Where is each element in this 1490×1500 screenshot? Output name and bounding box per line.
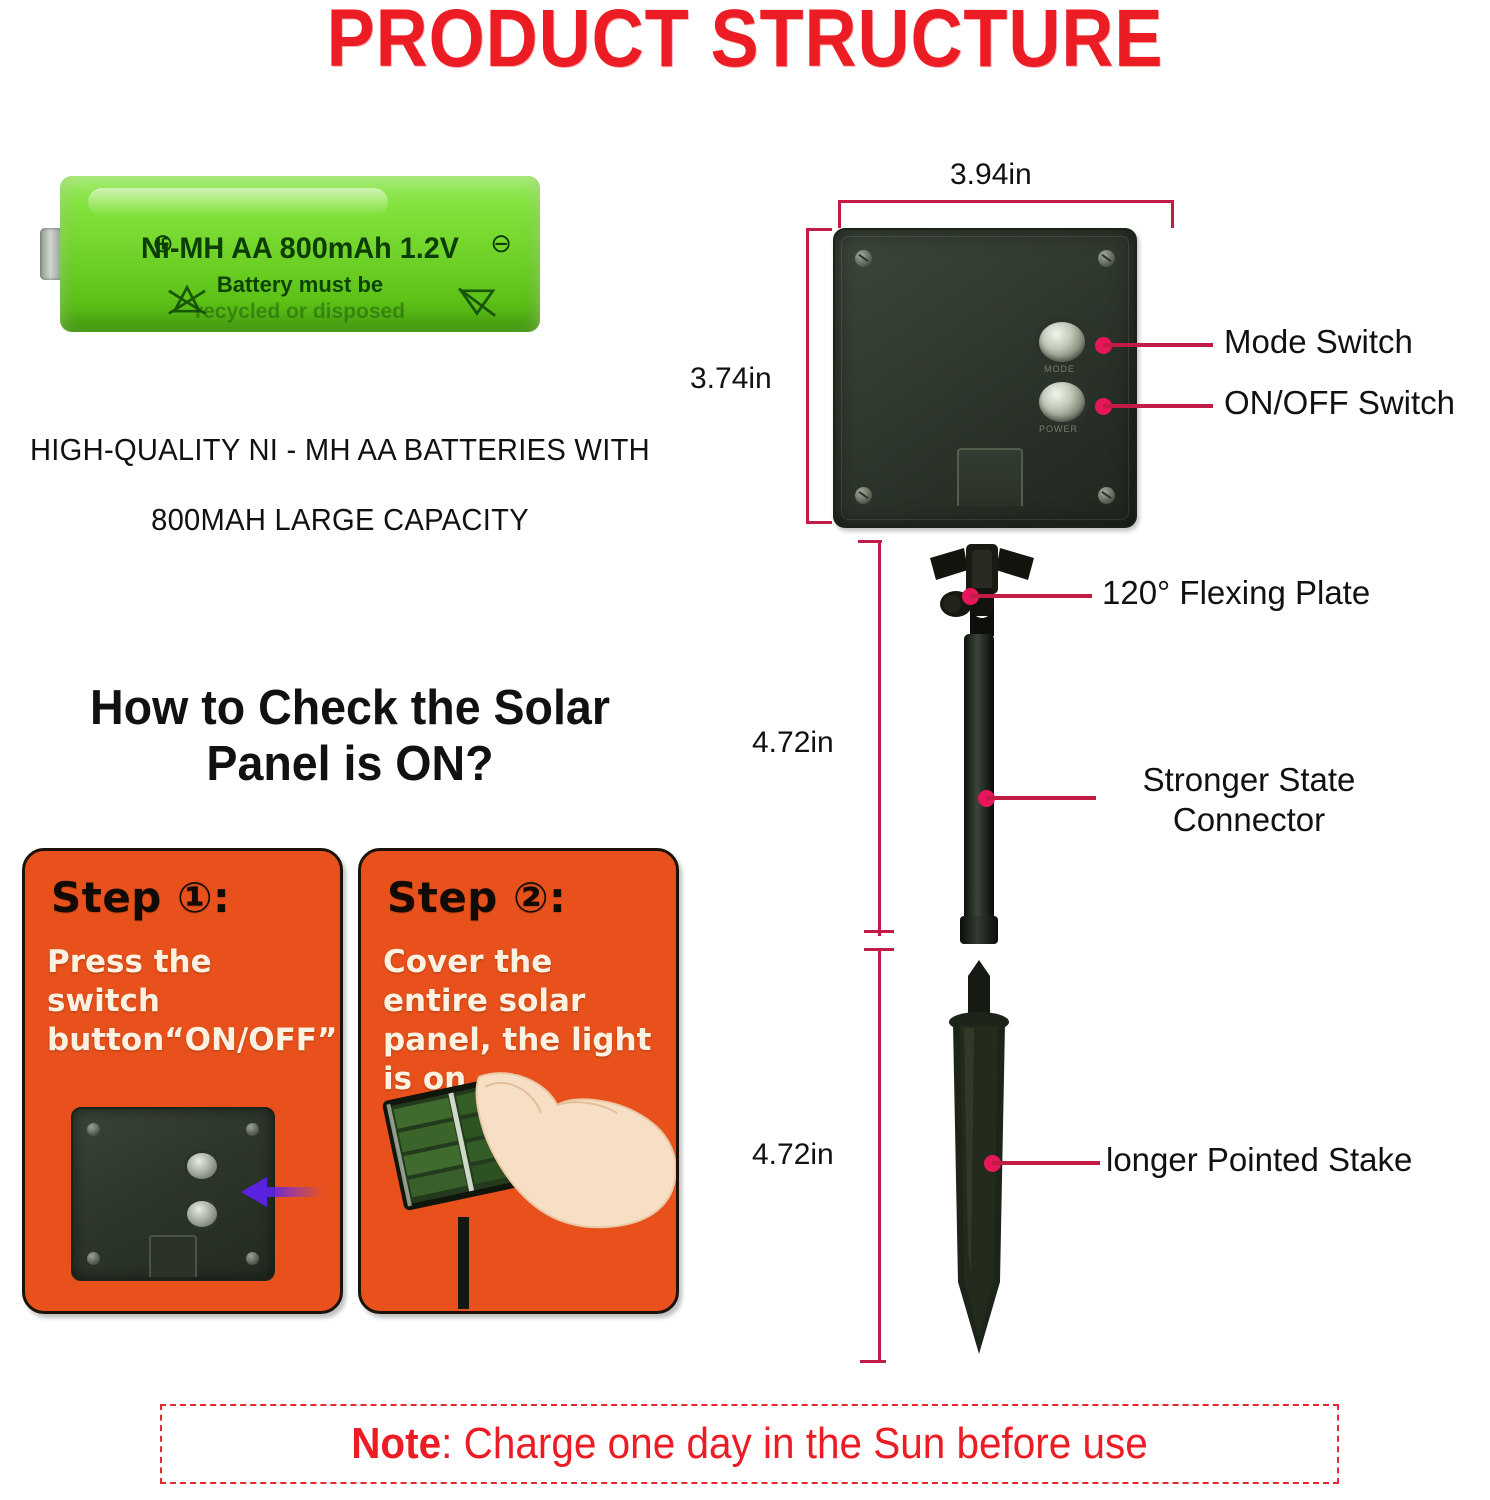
step-card-1: Step ①: Press the switch button“ON/OFF” (22, 848, 343, 1314)
step-1-title: Step ①: (51, 873, 230, 922)
battery-gloss (88, 188, 388, 216)
callout-line-on-off-switch (1103, 404, 1213, 408)
battery-body: ⊕ Ni-MH AA 800mAh 1.2V ⊖ Battery must be… (60, 176, 540, 332)
dim-line-panel-height (806, 228, 809, 524)
longer-pointed-stake-image (940, 952, 1018, 1362)
pole-foot (960, 916, 998, 944)
hand-icon (477, 1073, 676, 1227)
callout-label-flexing-plate: 120° Flexing Plate (1102, 573, 1370, 613)
on-off-switch-caption: POWER (1039, 424, 1078, 434)
step-1-body: Press the switch button“ON/OFF” (47, 943, 325, 1060)
battery-caption-line2: 800MAH LARGE CAPACITY (20, 502, 659, 538)
callout-label-pointed-stake: longer Pointed Stake (1106, 1140, 1412, 1180)
on-off-switch-button-icon[interactable] (1039, 382, 1085, 422)
panel-notch (957, 448, 1023, 506)
callout-label-state-connector: Stronger State Connector (1114, 760, 1384, 840)
mode-switch-button-icon (187, 1153, 217, 1179)
dim-tick (1171, 200, 1174, 228)
dim-line-panel-width (838, 200, 1174, 203)
dim-tick (858, 540, 882, 543)
dim-label-panel-width: 3.94in (950, 158, 1032, 192)
howto-heading-line1: How to Check the Solar (18, 680, 683, 736)
callout-label-state-connector-line2: Connector (1114, 800, 1384, 840)
battery-minus-icon: ⊖ (490, 228, 512, 259)
howto-heading: How to Check the Solar Panel is ON? (18, 680, 683, 792)
page-title: PRODUCT STRUCTURE (89, 0, 1400, 86)
screw-icon (855, 487, 872, 504)
dim-tick (860, 1360, 886, 1363)
callout-label-state-connector-line1: Stronger State (1114, 760, 1384, 800)
callout-line-flexing-plate (970, 594, 1092, 598)
note-bold: Note (351, 1419, 441, 1468)
dim-tick (864, 930, 894, 933)
crossed-bin-icon (454, 284, 500, 318)
stronger-state-connector-pole (964, 634, 994, 940)
dim-line-pole (878, 540, 881, 936)
dim-line-stake (878, 948, 881, 1362)
screw-icon (855, 250, 872, 267)
screw-icon (87, 1252, 100, 1265)
note-box: Note: Charge one day in the Sun before u… (160, 1404, 1339, 1484)
flexing-plate-mount-icon (922, 540, 1042, 640)
mode-switch-button-icon[interactable] (1039, 322, 1085, 362)
screw-icon (1098, 250, 1115, 267)
screw-icon (1098, 487, 1115, 504)
dim-tick (806, 521, 832, 524)
callout-label-mode-switch: Mode Switch (1224, 322, 1413, 362)
screw-icon (87, 1123, 100, 1136)
battery-caption-line1: HIGH-QUALITY NI - MH AA BATTERIES WITH (20, 432, 659, 468)
dim-label-stake: 4.72in (752, 1138, 834, 1172)
note-rest: : Charge one day in the Sun before use (441, 1419, 1148, 1468)
step-2-title: Step ②: (387, 873, 566, 922)
screw-icon (246, 1123, 259, 1136)
pointing-arrow-icon (237, 1175, 325, 1209)
step-card-2: Step ②: Cover the entire solar panel, th… (358, 848, 679, 1314)
panel-notch (149, 1235, 197, 1277)
callout-line-pointed-stake (992, 1161, 1100, 1165)
dim-label-panel-height: 3.74in (690, 362, 772, 396)
callout-label-on-off-switch: ON/OFF Switch (1224, 383, 1455, 423)
mode-switch-caption: MODE (1044, 364, 1075, 374)
callout-line-mode-switch (1103, 343, 1213, 347)
battery-spec-text: Ni-MH AA 800mAh 1.2V (70, 232, 531, 266)
howto-heading-line2: Panel is ON? (18, 736, 683, 792)
recycling-icon (164, 284, 210, 318)
dim-tick (864, 948, 894, 951)
step-2-hand-over-panel-image (361, 1069, 676, 1309)
note-text: Note: Charge one day in the Sun before u… (209, 1419, 1290, 1469)
callout-line-state-connector (986, 796, 1096, 800)
dim-tick (838, 200, 841, 228)
dim-label-pole: 4.72in (752, 726, 834, 760)
solar-panel-back-image: MODE POWER (833, 228, 1137, 528)
on-off-switch-button-icon (187, 1201, 217, 1227)
screw-icon (246, 1252, 259, 1265)
battery-illustration: ⊕ Ni-MH AA 800mAh 1.2V ⊖ Battery must be… (40, 176, 540, 336)
dim-tick (806, 228, 832, 231)
